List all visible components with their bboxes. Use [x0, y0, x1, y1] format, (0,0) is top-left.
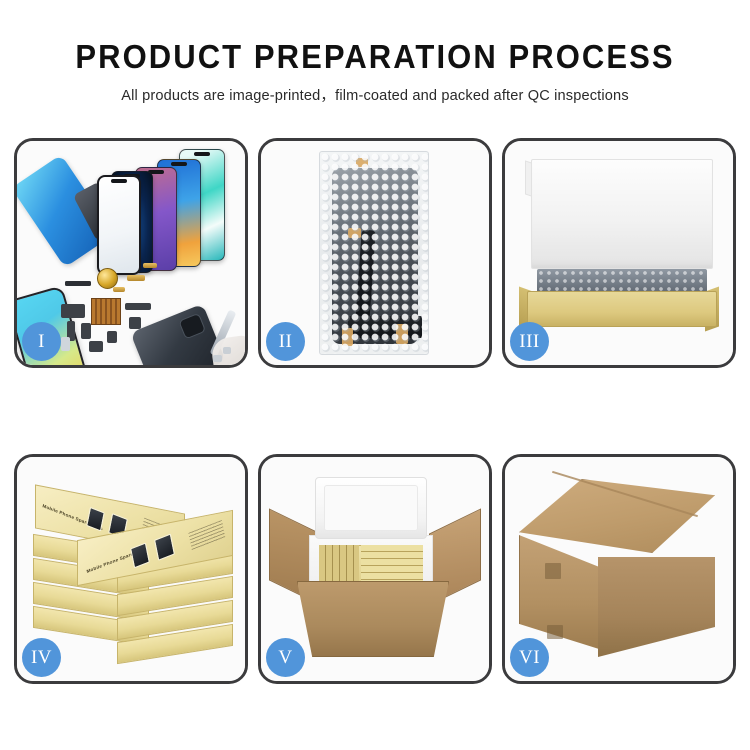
screen-bottom-strip [348, 316, 422, 338]
screw-2 [223, 347, 231, 354]
foam-lid-open [315, 477, 427, 539]
gold-connector-3 [143, 263, 157, 268]
screw-1 [213, 355, 222, 362]
tape-piece-top [356, 158, 368, 167]
gold-connector-1 [127, 275, 145, 281]
page-title: PRODUCT PREPARATION PROCESS [23, 40, 728, 75]
speaker-module [97, 268, 118, 289]
gold-connector-2 [113, 287, 125, 292]
bubble-wrap-bag [319, 151, 429, 355]
process-step-grid: I II [14, 138, 736, 684]
box-spec-lines-front [188, 520, 225, 552]
camera-module [107, 331, 117, 343]
retail-box-stack: Mobile Phone Spare Parts Mobile Phone Sp… [31, 473, 237, 669]
process-step-panel-4[interactable]: Mobile Phone Spare Parts Mobile Phone Sp… [14, 454, 248, 684]
kraft-box-tray [527, 291, 717, 327]
tape-piece-mid [348, 228, 361, 238]
white-foam-lid [531, 159, 713, 269]
wrapped-screen-assembly [332, 168, 418, 344]
carton-body [297, 581, 449, 657]
carton-right-face [598, 557, 715, 657]
carton-hand-tab-lower [547, 625, 563, 639]
tape-piece-bottom-right [396, 324, 408, 344]
step-badge-1: I [22, 322, 61, 361]
process-step-panel-2[interactable]: II [258, 138, 492, 368]
notch-icon [171, 162, 187, 166]
component-bar-1 [65, 281, 91, 286]
flex-cable-4 [125, 303, 151, 310]
step-badge-4: IV [22, 638, 61, 677]
step-badge-3: III [510, 322, 549, 361]
step-badge-2: II [266, 322, 305, 361]
process-step-panel-5[interactable]: V [258, 454, 492, 684]
step-badge-5: V [266, 638, 305, 677]
flex-cable-5 [129, 317, 141, 329]
inner-boxes-vertical-stack [319, 545, 359, 585]
notch-icon [111, 179, 127, 183]
tape-piece-bottom-left [342, 328, 353, 346]
step-badge-6: VI [510, 638, 549, 677]
inner-boxes-horizontal-stack [361, 545, 423, 585]
logic-board-grid [91, 298, 121, 325]
tempered-glass-panel [97, 175, 141, 275]
box-phone-thumb-4 [154, 534, 175, 561]
carton-hand-tab-upper [545, 563, 561, 579]
flex-cable-3 [81, 323, 91, 339]
box-phone-thumb-3 [130, 542, 150, 568]
sim-tray [61, 337, 70, 351]
notch-icon [194, 152, 210, 156]
process-step-panel-6[interactable]: VI [502, 454, 736, 684]
process-step-panel-3[interactable]: III [502, 138, 736, 368]
phone-fan-group [99, 149, 244, 277]
vibrator-module [89, 341, 103, 352]
process-step-panel-1[interactable]: I [14, 138, 248, 368]
page-header: PRODUCT PREPARATION PROCESS All products… [0, 0, 750, 105]
page-subtitle: All products are image-printed，film-coat… [0, 84, 750, 105]
flex-cable-1 [61, 304, 85, 318]
